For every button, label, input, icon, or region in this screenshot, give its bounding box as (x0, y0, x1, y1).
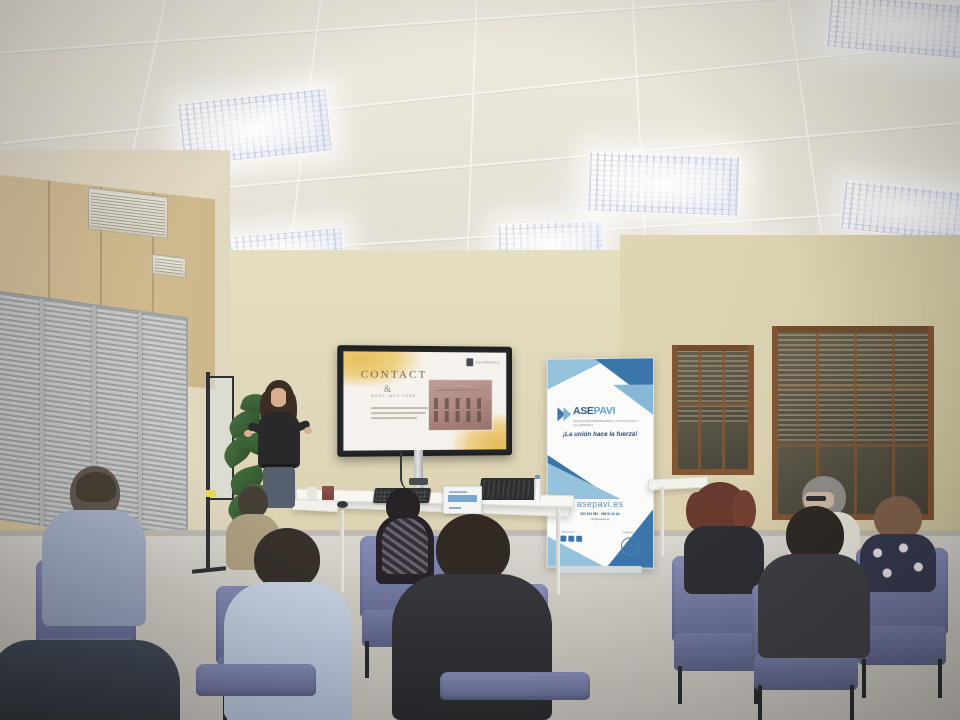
attendee-left-blue-polo (42, 466, 146, 626)
laptop[interactable] (479, 478, 537, 500)
hvac-vent-small (152, 254, 186, 278)
table-leg-right (556, 508, 560, 594)
chair[interactable] (196, 664, 316, 720)
presentation-screen[interactable]: UNIVERSIDAD CONTACT & MORE INFO HERE (337, 345, 512, 457)
slide-body-lines (371, 407, 435, 422)
attendee-right-dark-tshirt (758, 506, 870, 656)
linkedin-icon (576, 536, 582, 542)
window-right-small (672, 345, 754, 475)
banner-email: info@asepavi.es (548, 518, 653, 522)
sticky-note (206, 490, 216, 497)
slide-ampersand: & (384, 384, 391, 394)
coffee-cup (322, 486, 334, 500)
roll-up-banner-asepavi: ASEPAVI ASOCIACIÓN EMPRESARIAL LOS PALAC… (547, 357, 654, 568)
social-icons (560, 536, 582, 542)
slide-logo-mark (466, 358, 473, 366)
attendee-floral-blouse (860, 496, 938, 592)
ceiling-light-5 (587, 151, 741, 216)
chair[interactable] (440, 672, 590, 720)
partner-logo-text: ODS (629, 543, 636, 547)
banner-tagline: ¡La unión hace la fuerza! (548, 431, 653, 438)
mouse[interactable] (337, 501, 348, 508)
banner-logo: ASEPAVI ASOCIACIÓN EMPRESARIAL LOS PALAC… (557, 401, 653, 428)
slide-building-image (428, 379, 493, 431)
slide-logo: UNIVERSIDAD (466, 358, 499, 366)
banner-brand-subtitle: ASOCIACIÓN EMPRESARIAL LOS PALACIOS Y VI… (573, 420, 653, 427)
slide-subheading: MORE INFO HERE (371, 394, 416, 398)
facebook-icon (560, 536, 566, 542)
banner-base (556, 566, 642, 573)
attendee-front-left-dark (0, 640, 180, 720)
slide-contact: UNIVERSIDAD CONTACT & MORE INFO HERE (343, 351, 506, 450)
slide-heading: CONTACT (361, 369, 428, 381)
side-table-leg (660, 487, 664, 557)
attendee-curly-red (684, 482, 766, 592)
instagram-icon (568, 536, 574, 542)
banner-follow-label: Síguenos en (561, 531, 574, 534)
meeting-room-photo: UNIVERSIDAD CONTACT & MORE INFO HERE ASE… (0, 0, 960, 720)
water-bottle (534, 478, 541, 502)
screen-cable (400, 452, 416, 492)
slide-logo-text: UNIVERSIDAD (475, 360, 499, 364)
banner-collab-label: Colabora con (623, 531, 637, 534)
table-placard (443, 486, 482, 514)
chevron-icon (557, 407, 570, 421)
banner-brand: ASEPAVI (573, 405, 615, 417)
